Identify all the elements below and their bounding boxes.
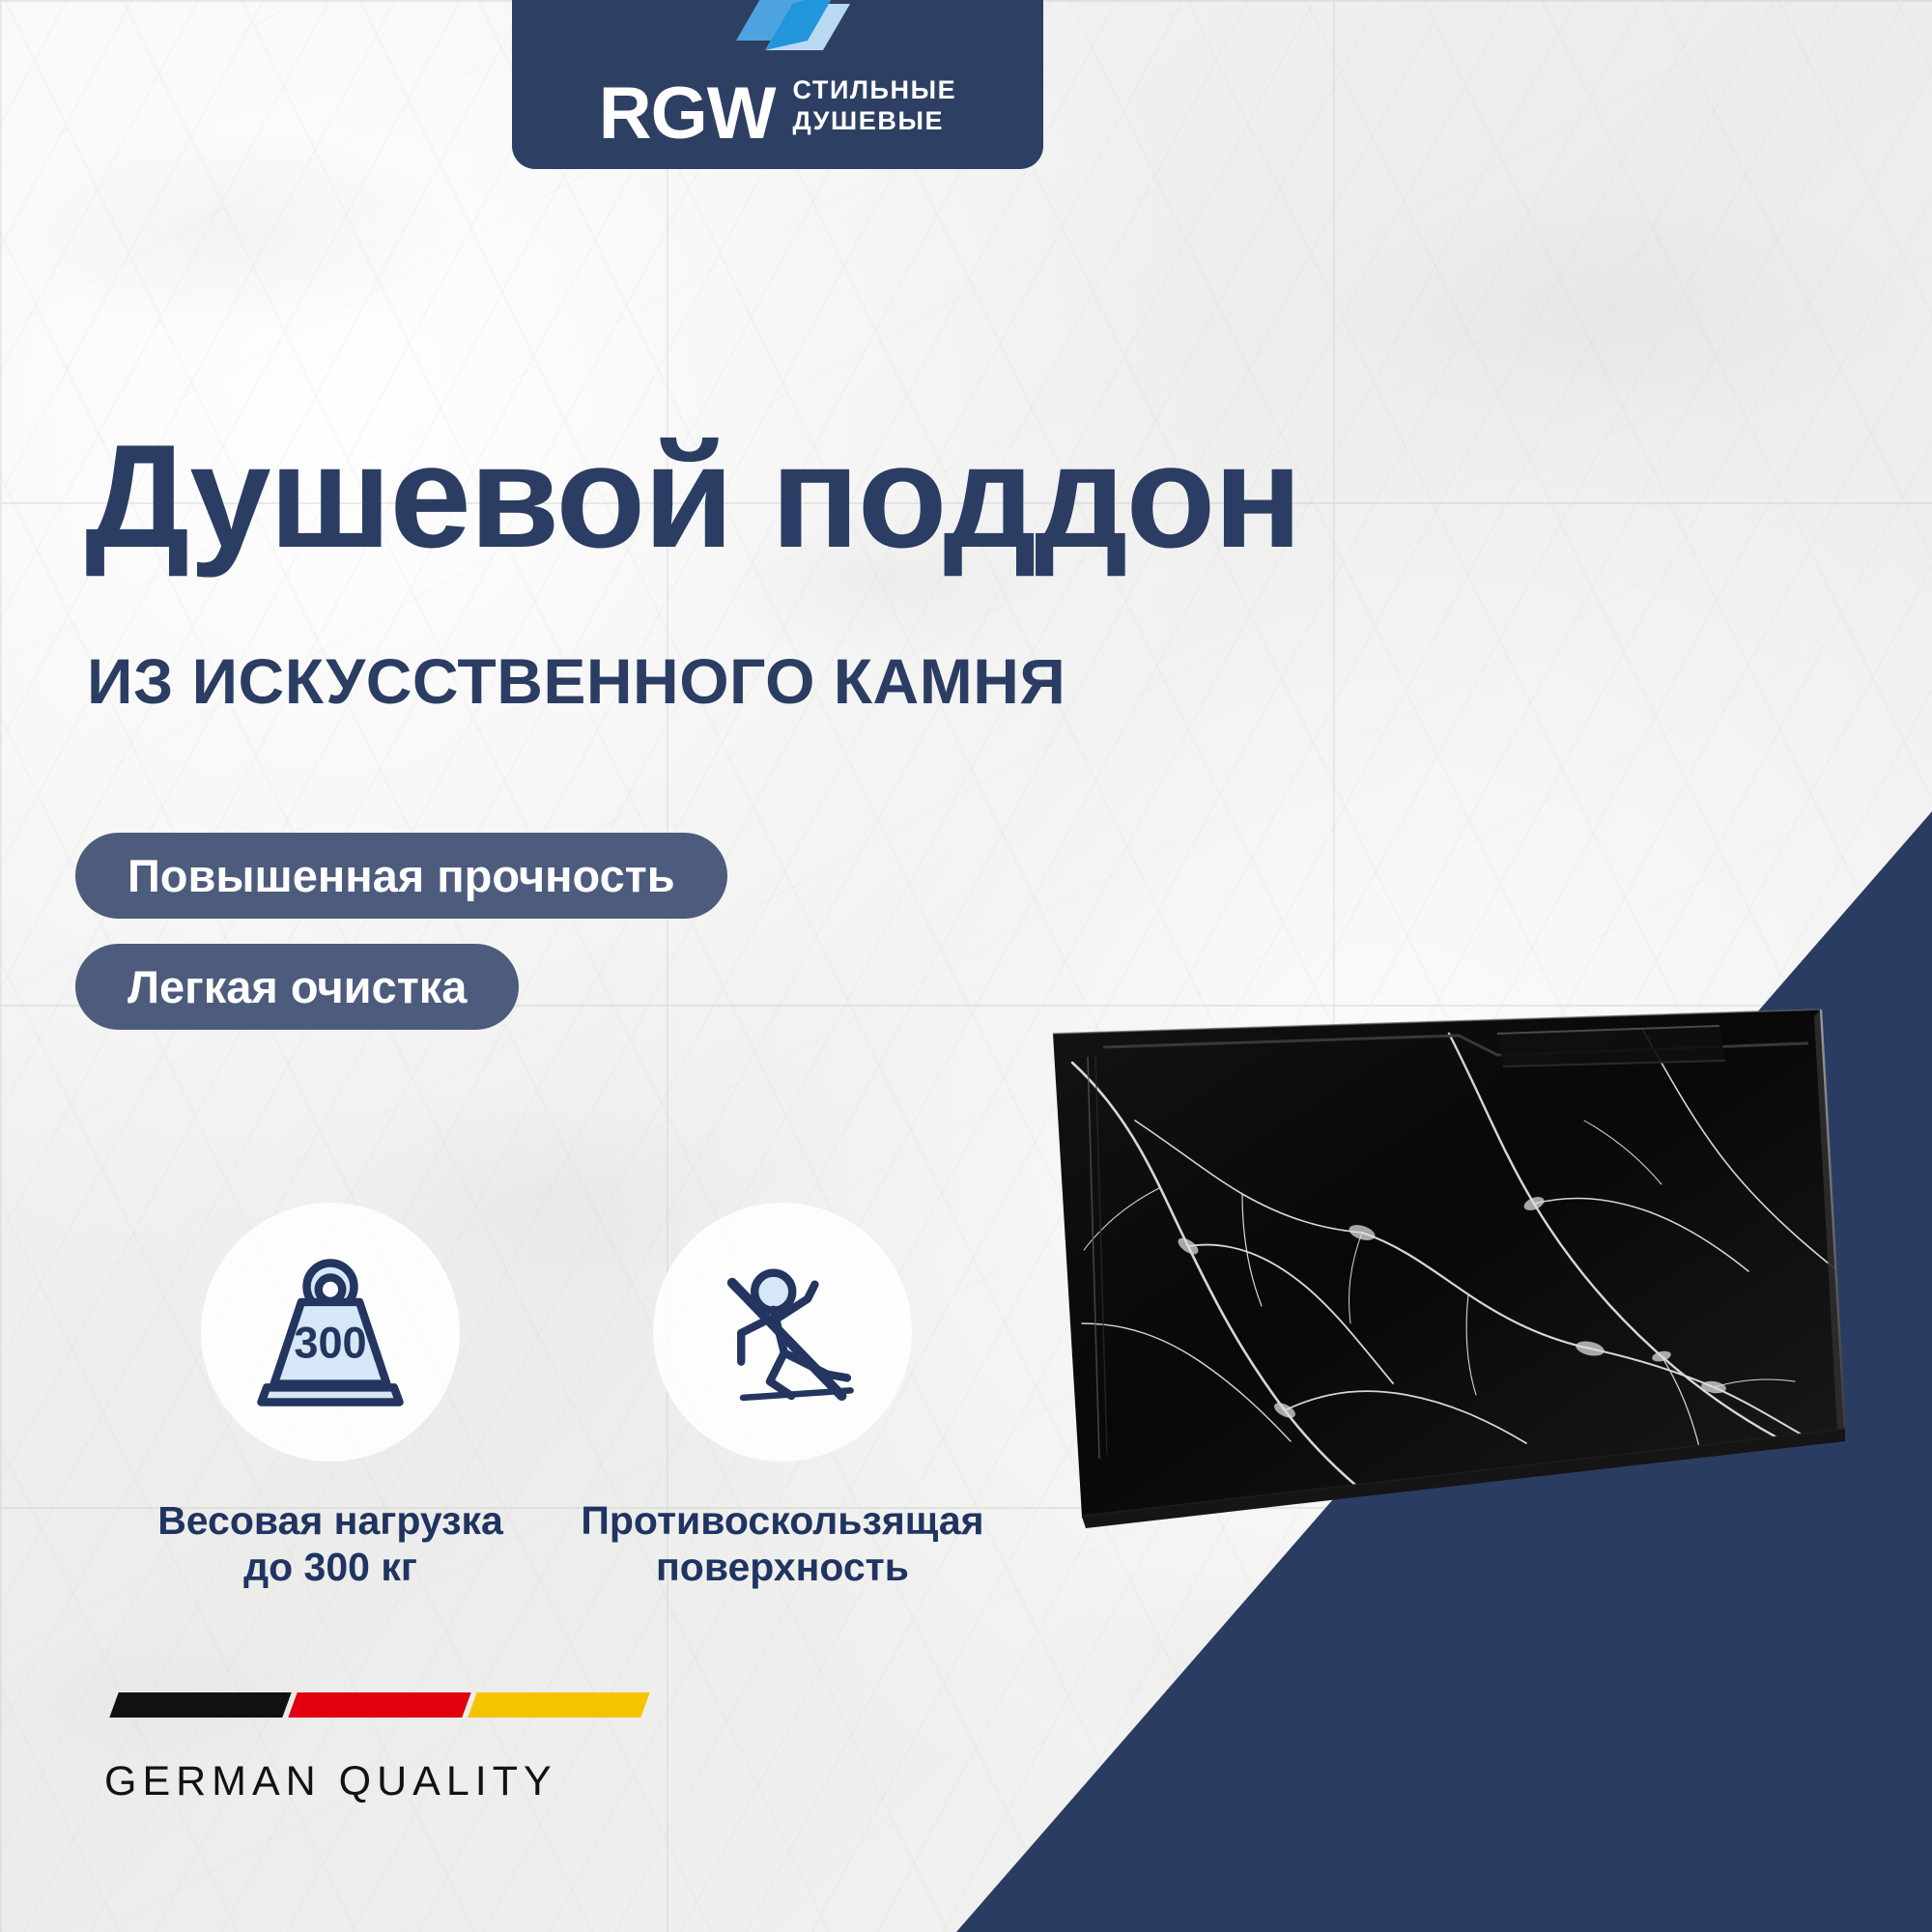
- feature-pill-strength[interactable]: Повышенная прочность: [75, 833, 727, 919]
- weight-300-icon: 300: [248, 1255, 412, 1409]
- feature-caption-antislip: Противоскользящая поверхность: [581, 1498, 983, 1590]
- poster-canvas: RGW СТИЛЬНЫЕ ДУШЕВЫЕ Душевой поддон ИЗ И…: [0, 0, 1932, 1932]
- german-flag-bars: [109, 1692, 649, 1718]
- product-image: [1043, 1005, 1855, 1546]
- anti-slip-icon: [701, 1256, 864, 1408]
- german-quality-badge: GERMAN QUALITY: [104, 1692, 645, 1805]
- feature-icon-backdrop: 300: [201, 1203, 460, 1462]
- flag-bar-black: [109, 1692, 292, 1718]
- brand-wordmark: RGW: [599, 84, 776, 144]
- weight-value-label: 300: [294, 1318, 366, 1367]
- feature-icon-backdrop: [653, 1203, 912, 1462]
- feature-icon-list: 300 Весовая нагрузка до 300 кг: [145, 1203, 968, 1590]
- page-title: Душевой поддон: [85, 423, 1592, 570]
- german-quality-label: GERMAN QUALITY: [104, 1758, 645, 1805]
- flag-bar-gold: [468, 1692, 650, 1718]
- rgw-logo-mark: [736, 0, 852, 66]
- shower-tray-illustration: [1043, 1005, 1855, 1546]
- feature-pill-cleaning[interactable]: Легкая очистка: [75, 944, 519, 1030]
- feature-weight-load: 300 Весовая нагрузка до 300 кг: [145, 1203, 516, 1590]
- flag-bar-red: [289, 1692, 471, 1718]
- feature-anti-slip: Противоскользящая поверхность: [597, 1203, 968, 1590]
- feature-pill-list: Повышенная прочность Легкая очистка: [75, 833, 727, 1030]
- brand-logo-plate[interactable]: RGW СТИЛЬНЫЕ ДУШЕВЫЕ: [512, 0, 1043, 169]
- brand-tagline: СТИЛЬНЫЕ ДУШЕВЫЕ: [792, 75, 956, 144]
- feature-caption-weight: Весовая нагрузка до 300 кг: [157, 1498, 503, 1590]
- page-subtitle: ИЗ ИСКУССТВЕННОГО КАМНЯ: [87, 649, 1536, 713]
